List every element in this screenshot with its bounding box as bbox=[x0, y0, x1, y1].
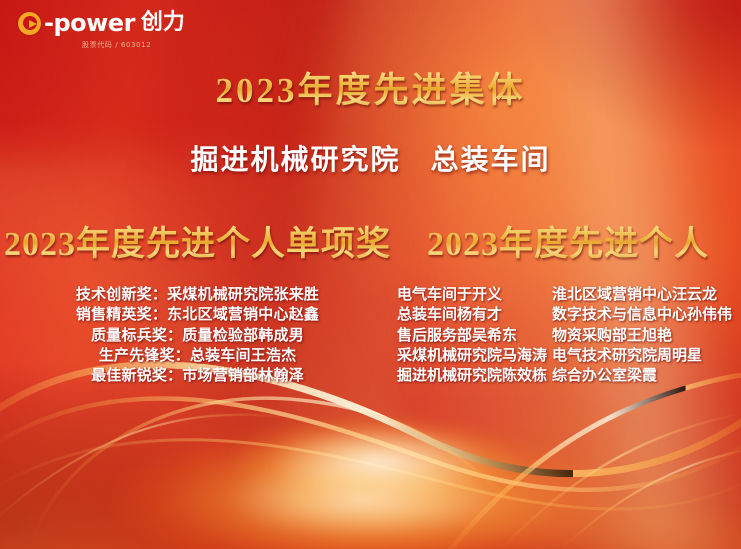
list-item: 掘进机械研究院陈效栋 综合办公室梁霞 bbox=[397, 366, 741, 386]
list-item: 技术创新奖：采煤机械研究院张来胜 bbox=[0, 285, 395, 305]
list-item: 售后服务部吴希东 物资采购部王旭艳 bbox=[397, 326, 741, 346]
individual-award-name-b: 物资采购部王旭艳 bbox=[552, 326, 672, 346]
individual-award-name-b: 淮北区域营销中心汪云龙 bbox=[552, 285, 717, 305]
individual-award-name-b: 数字技术与信息中心孙伟伟 bbox=[552, 305, 732, 325]
list-item: 销售精英奖：东北区域营销中心赵鑫 bbox=[0, 305, 395, 325]
swoosh-hot-core bbox=[193, 403, 564, 523]
main-title: 2023年度先进集体 bbox=[0, 62, 741, 113]
individual-award-name-a: 售后服务部吴希东 bbox=[397, 326, 552, 346]
heading-individual-award: 2023年度先进个人 bbox=[395, 216, 741, 265]
power-arrow-logo-icon bbox=[18, 12, 41, 35]
individual-award-name-a: 掘进机械研究院陈效栋 bbox=[397, 366, 552, 386]
list-item: 采煤机械研究院马海涛 电气技术研究院周明星 bbox=[397, 346, 741, 366]
brand-logo-row: -power 创力 bbox=[18, 11, 208, 35]
award-columns: 技术创新奖：采煤机械研究院张来胜 销售精英奖：东北区域营销中心赵鑫 质量标兵奖：… bbox=[0, 285, 741, 386]
list-item: 生产先锋奖：总装车间王浩杰 bbox=[0, 346, 395, 366]
list-item: 质量标兵奖：质量检验部韩成男 bbox=[0, 326, 395, 346]
brand-name-en: -power bbox=[44, 11, 135, 35]
individual-award-name-a: 电气车间于开义 bbox=[397, 285, 552, 305]
stock-code-label: 股票代码 / 603012 bbox=[82, 40, 208, 50]
list-item: 最佳新锐奖：市场营销部林翰泽 bbox=[0, 366, 395, 386]
award-poster: -power 创力 股票代码 / 603012 2023年度先进集体 掘进机械研… bbox=[0, 0, 741, 549]
individual-award-name-b: 综合办公室梁霞 bbox=[552, 366, 657, 386]
list-item: 总装车间杨有才 数字技术与信息中心孙伟伟 bbox=[397, 305, 741, 325]
individual-award-name-a: 采煤机械研究院马海涛 bbox=[397, 346, 552, 366]
individual-award-name-a: 总装车间杨有才 bbox=[397, 305, 552, 325]
heading-single-award: 2023年度先进个人单项奖 bbox=[0, 216, 395, 265]
list-item: 电气车间于开义 淮北区域营销中心汪云龙 bbox=[397, 285, 741, 305]
individual-award-name-b: 电气技术研究院周明星 bbox=[552, 346, 702, 366]
section-headings: 2023年度先进个人单项奖 2023年度先进个人 bbox=[0, 216, 741, 265]
individual-award-list: 电气车间于开义 淮北区域营销中心汪云龙 总装车间杨有才 数字技术与信息中心孙伟伟… bbox=[395, 285, 741, 386]
brand-name-cn: 创力 bbox=[141, 12, 185, 34]
brand-logo: -power 创力 股票代码 / 603012 bbox=[18, 11, 208, 50]
single-award-list: 技术创新奖：采煤机械研究院张来胜 销售精英奖：东北区域营销中心赵鑫 质量标兵奖：… bbox=[0, 285, 395, 386]
collective-winners: 掘进机械研究院 总装车间 bbox=[0, 138, 741, 178]
